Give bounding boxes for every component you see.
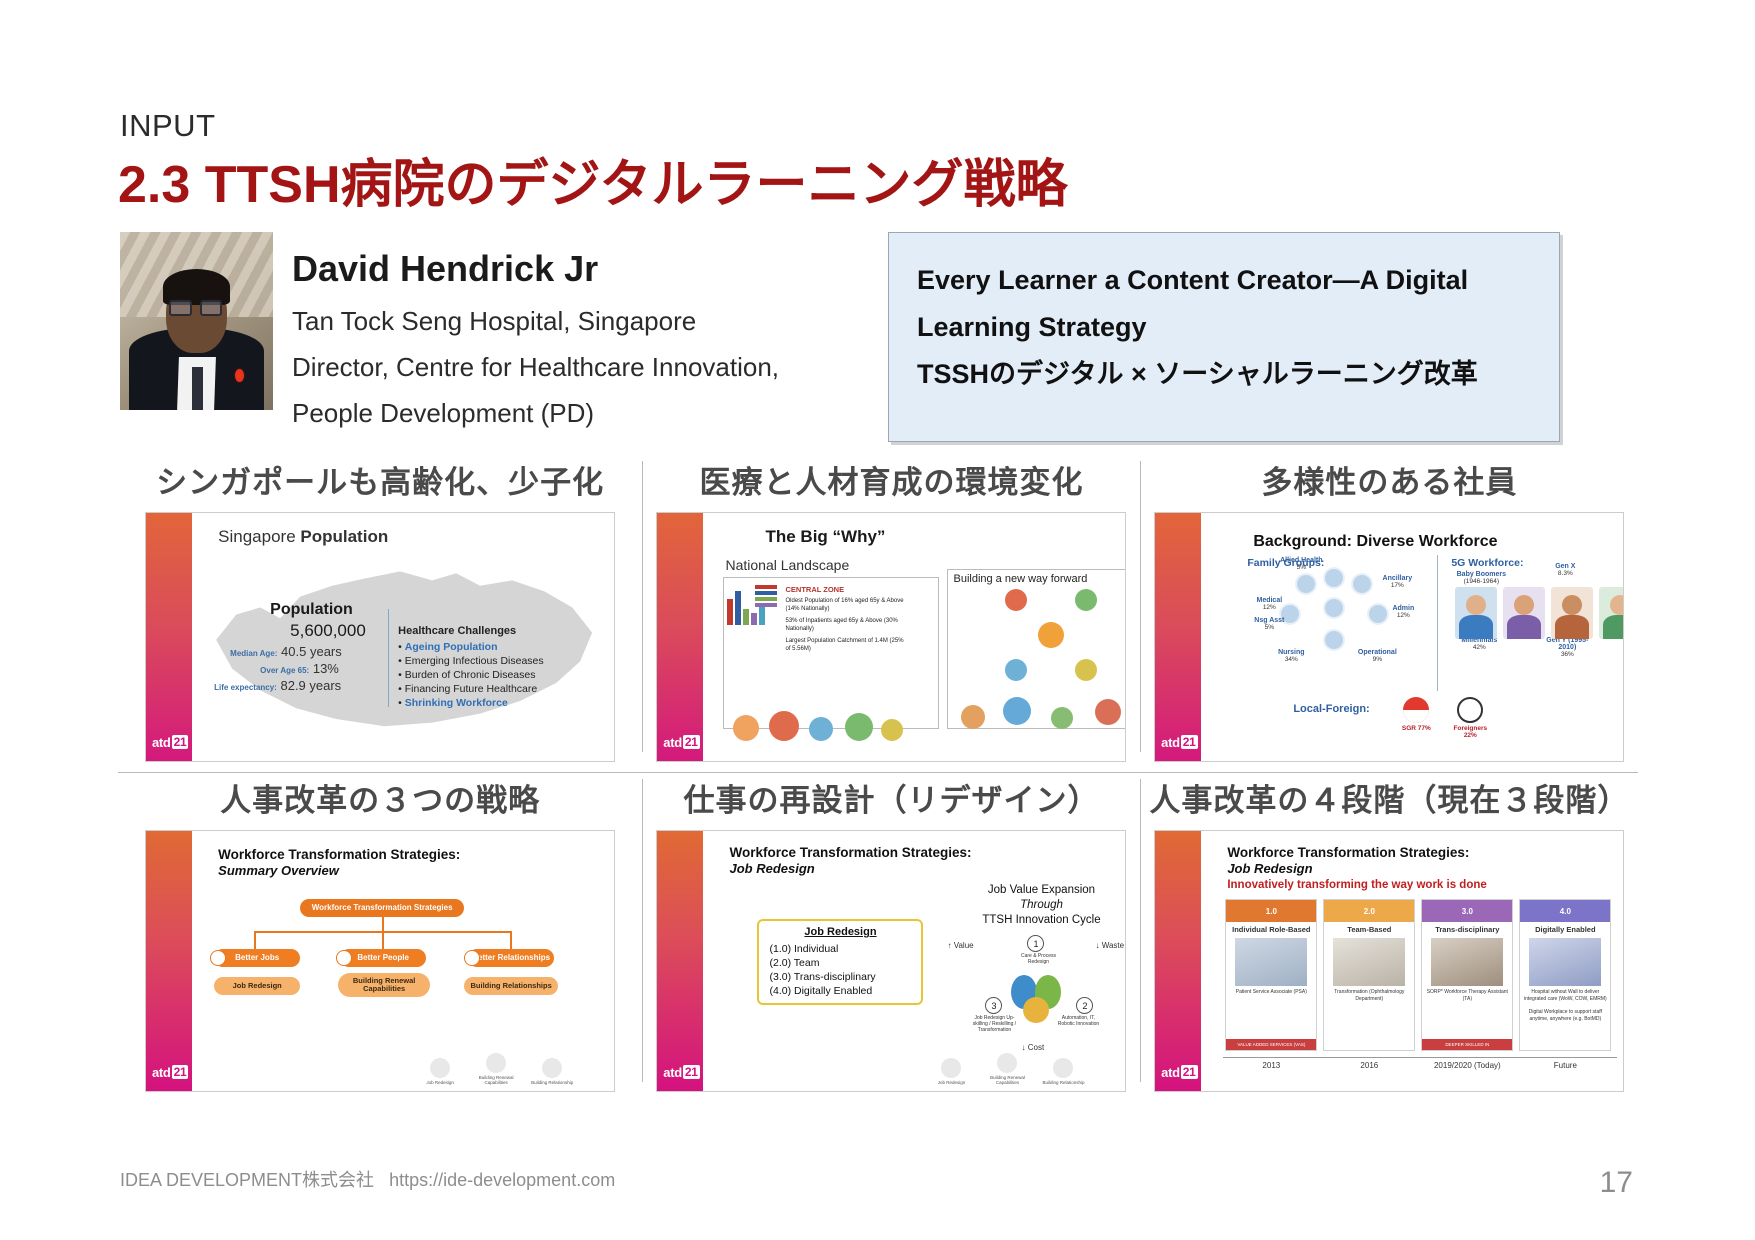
job-redesign-icon (430, 1058, 450, 1078)
atd-logo-badge: 21 (1181, 735, 1198, 749)
stage-3-name: Trans-disciplinary (1422, 925, 1512, 934)
grid-caption-1: シンガポールも高齢化、少子化 (118, 455, 642, 512)
page-number: 17 (1600, 1166, 1633, 1200)
slide-6-title-2: Job Redesign (1227, 861, 1312, 876)
footer-url: https://ide-development.com (389, 1170, 615, 1190)
atd-logo: atd21 (1159, 1061, 1199, 1083)
slide-stripe: atd21 (657, 831, 703, 1091)
stat-median-age-value: 40.5 years (281, 644, 342, 659)
atd-logo-badge: 21 (683, 735, 700, 749)
slide-root: INPUT 2.3 TTSH病院のデジタルラーニング戦略 David Hendr… (0, 0, 1755, 1240)
community-illustration (729, 707, 925, 753)
footer-icon-0: Job Redesign (418, 1058, 462, 1085)
footer-icon-label: Building Relationship (531, 1080, 573, 1085)
stage-column-4: 4.0 Digitally Enabled Hospital without W… (1519, 899, 1611, 1051)
node-label: Ancillary (1371, 575, 1423, 582)
slide-3-divider (1437, 555, 1438, 691)
node-label: Admin (1377, 605, 1429, 612)
atd-logo: atd21 (661, 731, 701, 753)
job-redesign-list: (1.0) Individual (2.0) Team (3.0) Trans-… (769, 942, 921, 998)
list-item: • Shrinking Workforce (398, 696, 544, 710)
stage-num: 2.0 (1364, 907, 1375, 916)
slide-4-title-1: Workforce Transformation Strategies: (218, 847, 460, 862)
timeline-axis (1223, 1057, 1617, 1058)
grid-cell-1[interactable]: シンガポールも高齢化、少子化 atd21 Singapore Populatio… (118, 455, 642, 762)
local-value: SGR 77% (1396, 725, 1436, 732)
stage-1-image (1235, 938, 1307, 986)
thumbnail-slide-4[interactable]: atd21 Workforce Transformation Strategie… (145, 830, 615, 1092)
avatar (1325, 569, 1343, 587)
workforce-card (1503, 587, 1545, 639)
footer-icon-1: Building Renewal Capabilities (985, 1053, 1029, 1085)
stage-column-2: 2.0 Team-Based Transformation (Ophthalmo… (1323, 899, 1415, 1051)
footer-icon-label: Building Renewal Capabilities (990, 1075, 1025, 1085)
stage-2-caption: Transformation (Ophthalmology Department… (1324, 989, 1414, 1003)
connector (382, 931, 384, 949)
slide-2-title: The Big “Why” (765, 527, 885, 547)
population-label: Population (270, 601, 353, 619)
node-medical: Medical12% (1243, 597, 1295, 611)
slide-stripe: atd21 (146, 513, 192, 761)
branch-bottom-1: Building Renewal Capabilities (338, 973, 430, 997)
footer-icon-label: Job Redesign (426, 1080, 454, 1085)
slide-4-title-2: Summary Overview (218, 863, 339, 878)
branch-top-2: Better Relationships (468, 949, 554, 967)
thumbnail-slide-1[interactable]: atd21 Singapore Population Population 5,… (145, 512, 615, 762)
slide-2-fact-2: 53% of Inpatients aged 65y & Above (30% … (785, 617, 909, 633)
gen-value: 42% (1473, 644, 1486, 651)
stage-column-1: 1.0 Individual Role-Based Patient Servic… (1225, 899, 1317, 1051)
footer-company: IDEA DEVELOPMENT株式会社 (120, 1170, 374, 1190)
challenge-0: Ageing Population (405, 641, 498, 653)
stage-1-caption: Patient Service Associate (PSA) (1226, 989, 1316, 996)
gen-x: Gen X8.3% (1539, 563, 1591, 577)
grid-caption-3: 多様性のある社員 (1141, 455, 1638, 512)
slide-6-body: Workforce Transformation Strategies: Job… (1201, 831, 1623, 1091)
footer-credit: IDEA DEVELOPMENT株式会社 https://ide-develop… (120, 1166, 615, 1192)
cycle-node-1-label: Care & Process Redesign (1015, 953, 1061, 965)
footer-icon-label: Job Redesign (938, 1080, 966, 1085)
stage-num: 1.0 (1266, 907, 1277, 916)
list-item: (1.0) Individual (769, 942, 921, 956)
callout-line-2: Learning Strategy (917, 304, 1533, 351)
footer-icon-label: Building Renewal Capabilities (479, 1075, 514, 1085)
footer-icon-1: Building Renewal Capabilities (474, 1053, 518, 1085)
footer-icon-2: Building Relationship (1041, 1058, 1085, 1085)
thumbnail-row-top: シンガポールも高齢化、少子化 atd21 Singapore Populatio… (118, 455, 1638, 762)
stage-2-header: 2.0 (1324, 900, 1414, 922)
year-2013: 2013 (1233, 1061, 1309, 1070)
atd-logo-badge: 21 (683, 1065, 700, 1079)
portrait-glasses-right (200, 300, 223, 316)
slide-stripe: atd21 (1155, 513, 1201, 761)
slide-3-title: Background: Diverse Workforce (1253, 533, 1497, 551)
slide-stripe: atd21 (657, 513, 703, 761)
stage-column-3: 3.0 Trans-disciplinary SORP* Workforce T… (1421, 899, 1513, 1051)
stat-over-65-value: 13% (313, 661, 339, 676)
central-zone-label: CENTRAL ZONE (785, 585, 844, 594)
slide-2-fact-3: Largest Population Catchment of 1.4M (25… (785, 637, 909, 653)
thumbnail-slide-5[interactable]: atd21 Workforce Transformation Strategie… (656, 830, 1126, 1092)
chart-legend (755, 585, 777, 609)
stage-2-name: Team-Based (1324, 925, 1414, 934)
stat-median-age-label: Median Age: (230, 649, 277, 658)
year-today: 2019/2020 (Today) (1429, 1061, 1505, 1070)
gen-name: Gen Y (1995-2010) (1541, 637, 1593, 651)
building-relationship-icon (542, 1058, 562, 1078)
value-arrow: ↑ Value (947, 941, 973, 950)
thumbnail-row-bottom: 人事改革の３つの戦略 atd21 Workforce Transformatio… (118, 773, 1638, 1092)
slide-5-body: Workforce Transformation Strategies: Job… (703, 831, 1125, 1091)
job-redesign-box: Job Redesign (1.0) Individual (2.0) Team… (757, 919, 923, 1005)
gen-baby-boomers: Baby Boomers(1946-1964) (1455, 571, 1507, 585)
stage-4-footer: Digital Workplace to support staff anyti… (1520, 1009, 1610, 1023)
stage-4-image (1529, 938, 1601, 986)
avatar (1325, 599, 1343, 617)
slide-2-fact-1: Oldest Population of 16% aged 65y & Abov… (785, 597, 909, 613)
atd-logo: atd21 (661, 1061, 701, 1083)
speaker-name: David Hendrick Jr (292, 248, 598, 290)
portrait-lapel-pin (235, 369, 244, 382)
branch-bottom-2: Building Relationships (464, 977, 558, 995)
gen-value: 8.3% (1558, 570, 1573, 577)
building-renewal-icon (486, 1053, 506, 1073)
atd-logo-badge: 21 (1181, 1065, 1198, 1079)
node-value: 5% (1265, 624, 1274, 631)
grid-caption-6: 人事改革の４段階（現在３段階） (1141, 773, 1638, 830)
slide-2-body: The Big “Why” National Landscape Buildin… (703, 513, 1125, 761)
list-item: • Emerging Infectious Diseases (398, 654, 544, 668)
strategy-cycle-diagram (1003, 587, 1099, 683)
grid-cell-5[interactable]: 仕事の再設計（リデザイン） atd21 Workforce Transforma… (643, 773, 1139, 1092)
stage-num: 4.0 (1560, 907, 1571, 916)
node-value: 17% (1391, 582, 1404, 589)
thumbnail-slide-3[interactable]: atd21 Background: Diverse Workforce Fami… (1154, 512, 1624, 762)
session-title-callout: Every Learner a Content Creator—A Digita… (888, 232, 1560, 442)
thumbnail-slide-2[interactable]: atd21 The Big “Why” National Landscape B… (656, 512, 1126, 762)
speaker-affiliation: Tan Tock Seng Hospital, Singapore Direct… (292, 298, 812, 436)
cycle-node-3: 3 (985, 997, 1002, 1014)
gen-years: (1946-1964) (1464, 578, 1499, 585)
5g-workforce-label: 5G Workforce: (1451, 557, 1523, 569)
grid-cell-2[interactable]: 医療と人材育成の環境変化 atd21 The Big “Why” Nationa… (643, 455, 1139, 762)
slide-6-title-3: Innovatively transforming the way work i… (1227, 879, 1486, 891)
stage-4-name: Digitally Enabled (1520, 925, 1610, 934)
slide-5-title-1: Workforce Transformation Strategies: (729, 845, 971, 860)
branch-top-1: Better People (340, 949, 426, 967)
slide-6-title-1: Workforce Transformation Strategies: (1227, 845, 1469, 860)
slide-stripe: atd21 (146, 831, 192, 1091)
node-operational: Operational9% (1351, 649, 1403, 663)
atd-logo-text: atd (152, 1065, 171, 1080)
grid-cell-6[interactable]: 人事改革の４段階（現在３段階） atd21 Workforce Transfor… (1141, 773, 1638, 1092)
challenge-2: Burden of Chronic Diseases (405, 669, 536, 681)
jve-line-3: TTSH Innovation Cycle (951, 913, 1126, 928)
thumbnail-grid: シンガポールも高齢化、少子化 atd21 Singapore Populatio… (118, 455, 1638, 1092)
challenges-heading: Healthcare Challenges (398, 625, 516, 637)
cost-label: Cost (1028, 1043, 1044, 1052)
stage-3-image (1431, 938, 1503, 986)
cycle-node-1: 1 (1027, 935, 1044, 952)
list-item: • Financing Future Healthcare (398, 682, 544, 696)
node-value: 5% (1297, 564, 1306, 571)
avatar (1297, 575, 1315, 593)
stage-1-header: 1.0 (1226, 900, 1316, 922)
grid-cell-4[interactable]: 人事改革の３つの戦略 atd21 Workforce Transformatio… (118, 773, 642, 1092)
node-nsg-asst: Nsg Asst5% (1243, 617, 1295, 631)
slide-1-title-bold: Population (300, 527, 388, 546)
slide-1-body: Singapore Population Population 5,600,00… (192, 513, 614, 761)
node-value: 12% (1397, 612, 1410, 619)
speaker-line-3: People Development (PD) (292, 390, 812, 436)
node-allied-health: Allied Health5% (1275, 557, 1327, 571)
node-label: Allied Health (1275, 557, 1327, 564)
atd-logo: atd21 (1159, 731, 1199, 753)
stage-2-image (1333, 938, 1405, 986)
node-nursing: Nursing34% (1265, 649, 1317, 663)
workforce-card (1599, 587, 1624, 639)
root-node: Workforce Transformation Strategies (300, 899, 464, 917)
atd-logo-text: atd (663, 735, 682, 750)
stage-num: 3.0 (1462, 907, 1473, 916)
atd-logo-text: atd (152, 735, 171, 750)
gen-name: Gen X (1539, 563, 1591, 570)
workforce-card (1455, 587, 1497, 639)
jve-line-2: Through (1020, 899, 1063, 911)
branch-top-0: Better Jobs (214, 949, 300, 967)
challenges-list: • Ageing Population • Emerging Infectiou… (398, 640, 544, 710)
speaker-line-2: Director, Centre for Healthcare Innovati… (292, 344, 812, 390)
ttsh-innovation-cycle: 1 Care & Process Redesign 2 Automation, … (981, 935, 1093, 1043)
atd-logo: atd21 (150, 1061, 190, 1083)
stage-1-name: Individual Role-Based (1226, 925, 1316, 934)
stage-3-footer: DEEPER SKILLED IN (1422, 1039, 1512, 1050)
atd-logo-text: atd (663, 1065, 682, 1080)
page-title: 2.3 TTSH病院のデジタルラーニング戦略 (118, 142, 1067, 217)
slide-4-body: Workforce Transformation Strategies: Sum… (192, 831, 614, 1091)
node-admin: Admin12% (1377, 605, 1429, 619)
callout-line-3: TSSHのデジタル × ソーシャルラーニング改革 (917, 351, 1533, 398)
waste-arrow: ↓ Waste (1095, 941, 1124, 950)
slide-5-title-2: Job Redesign (729, 861, 814, 876)
avatar (1325, 631, 1343, 649)
kicker-label: INPUT (120, 108, 216, 144)
grid-caption-2: 医療と人材育成の環境変化 (643, 455, 1139, 512)
stat-median-age: Median Age: 40.5 years (230, 644, 342, 659)
portrait-glasses-left (169, 300, 192, 316)
atd-logo-badge: 21 (172, 1065, 189, 1079)
footer-icon-label: Building Relationship (1042, 1080, 1084, 1085)
year-2016: 2016 (1331, 1061, 1407, 1070)
list-item: (2.0) Team (769, 956, 921, 970)
grid-cell-3[interactable]: 多様性のある社員 atd21 Background: Diverse Workf… (1141, 455, 1638, 762)
gen-value: 36% (1561, 651, 1574, 658)
connector (382, 917, 384, 931)
value-label: Value (954, 941, 974, 950)
connector (254, 931, 256, 949)
slide-2-subtitle: National Landscape (725, 557, 849, 573)
challenge-4: Shrinking Workforce (405, 697, 508, 709)
atd-logo: atd21 (150, 731, 190, 753)
node-label: Operational (1351, 649, 1403, 656)
slide-stripe: atd21 (1155, 831, 1201, 1091)
list-item: • Ageing Population (398, 640, 544, 654)
year-future: Future (1527, 1061, 1603, 1070)
gen-millennials: Millennials42% (1453, 637, 1505, 651)
waste-label: Waste (1102, 941, 1124, 950)
cost-arrow: ↓ Cost (1021, 1043, 1044, 1052)
node-ancillary: Ancillary17% (1371, 575, 1423, 589)
stage-4-header: 4.0 (1520, 900, 1610, 922)
gen-z: Gen Y (1995-2010)36% (1541, 637, 1593, 658)
thumbnail-slide-6[interactable]: atd21 Workforce Transformation Strategie… (1154, 830, 1624, 1092)
atd-logo-text: atd (1161, 1065, 1180, 1080)
job-redesign-icon (941, 1058, 961, 1078)
slide-2-right-label: Building a new way forward (953, 573, 1087, 585)
job-value-expansion-title: Job Value Expansion Through TTSH Innovat… (951, 883, 1126, 928)
list-item: (4.0) Digitally Enabled (769, 984, 921, 998)
node-label: Medical (1243, 597, 1295, 604)
stage-4-caption: Hospital without Wall to deliver integra… (1520, 989, 1610, 1003)
connector (510, 931, 512, 949)
cycle-node-3-label: Job Redesign Up-skilling / Reskilling / … (971, 1015, 1017, 1033)
footer-icon-2: Building Relationship (530, 1058, 574, 1085)
callout-line-1: Every Learner a Content Creator—A Digita… (917, 257, 1533, 304)
speaker-line-1: Tan Tock Seng Hospital, Singapore (292, 298, 812, 344)
gen-name: Baby Boomers (1455, 571, 1507, 578)
slide-3-body: Background: Diverse Workforce Family Gro… (1201, 513, 1623, 761)
stat-over-65: Over Age 65: 13% (260, 661, 339, 676)
stage-3-header: 3.0 (1422, 900, 1512, 922)
list-item: • Burden of Chronic Diseases (398, 668, 544, 682)
challenge-3: Financing Future Healthcare (405, 683, 538, 695)
foreign-value: Foreigners 22% (1450, 725, 1490, 739)
workforce-card (1551, 587, 1593, 639)
local-foreign-label: Local-Foreign: (1293, 703, 1369, 715)
grid-caption-5: 仕事の再設計（リデザイン） (643, 773, 1139, 830)
cycle-node-2-label: Automation, IT, Robotic Innovation (1055, 1015, 1101, 1027)
building-relationship-icon (1053, 1058, 1073, 1078)
atd-logo-text: atd (1161, 735, 1180, 750)
job-redesign-heading: Job Redesign (759, 926, 921, 938)
stat-life-expectancy-label: Life expectancy: (214, 683, 277, 692)
stage-1-footer: VALUE ADDED SERVICES (VAS) (1226, 1039, 1316, 1050)
building-renewal-icon (997, 1053, 1017, 1073)
stat-life-expectancy: Life expectancy: 82.9 years (214, 678, 341, 693)
footer-icon-0: Job Redesign (929, 1058, 973, 1085)
node-value: 34% (1285, 656, 1298, 663)
portrait-tie (192, 367, 203, 410)
stat-life-expectancy-value: 82.9 years (280, 678, 341, 693)
jve-line-1: Job Value Expansion (951, 883, 1126, 898)
slide-1-title: Singapore Population (218, 527, 388, 547)
branch-bottom-0: Job Redesign (214, 977, 300, 995)
challenge-1: Emerging Infectious Diseases (405, 655, 544, 667)
atd-logo-badge: 21 (172, 735, 189, 749)
speaker-portrait (120, 232, 273, 410)
stat-over-65-label: Over Age 65: (260, 666, 309, 675)
node-value: 12% (1263, 604, 1276, 611)
cycle-core (1038, 622, 1064, 648)
slide-1-title-plain: Singapore (218, 527, 300, 546)
globe-icon (1457, 697, 1483, 723)
slide-1-divider (388, 609, 389, 707)
node-label: Nsg Asst (1243, 617, 1295, 624)
node-value: 9% (1373, 656, 1382, 663)
node-label: Nursing (1265, 649, 1317, 656)
cycle-node-2: 2 (1076, 997, 1093, 1014)
singapore-flag-icon (1403, 697, 1429, 723)
population-value: 5,600,000 (290, 621, 366, 641)
avatar (1353, 575, 1371, 593)
grid-caption-4: 人事改革の３つの戦略 (118, 773, 642, 830)
stage-3-caption: SORP* Workforce Therapy Assistant (TA) (1422, 989, 1512, 1003)
community-illustration-2 (955, 689, 1126, 751)
list-item: (3.0) Trans-disciplinary (769, 970, 921, 984)
